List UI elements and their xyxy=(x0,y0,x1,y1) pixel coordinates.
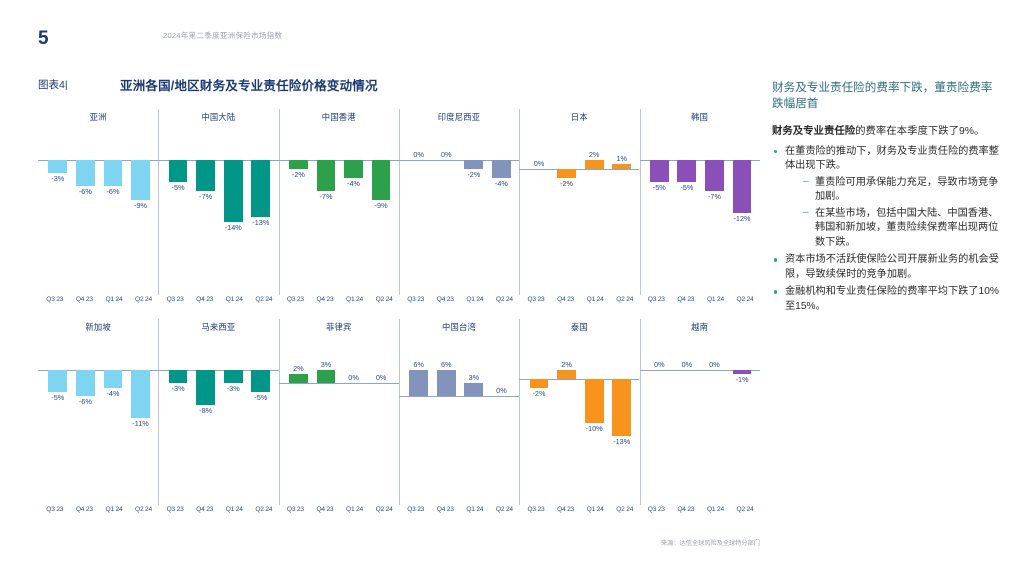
tick-label: Q1 24 xyxy=(340,296,370,303)
commentary-sidebar: 财务及专业责任险的费率下跌，董责险费率跌幅居首 财务及专业责任险的费率在本季度下… xyxy=(772,80,1000,317)
plot-area: -5%-6%-4%-11% xyxy=(44,344,154,494)
tick-label: Q2 24 xyxy=(369,296,399,303)
bar xyxy=(612,164,631,168)
bar-value-label: 1% xyxy=(600,154,644,163)
tick-label: Q2 24 xyxy=(490,296,520,303)
tick-label: Q2 24 xyxy=(249,296,279,303)
panel-divider xyxy=(640,319,641,505)
plot-area: 0%0%-2%-4% xyxy=(405,134,515,284)
bar-slot: -5% xyxy=(673,134,701,284)
bar xyxy=(612,379,631,436)
chart-panel: 中国台湾6%6%3%0%Q3 23Q4 23Q1 24Q2 24 xyxy=(399,316,519,526)
tick-label: Q1 24 xyxy=(580,296,610,303)
bar-slot: -14% xyxy=(219,134,247,284)
bar-slot: -10% xyxy=(580,344,608,494)
bar xyxy=(196,160,215,191)
tick-label: Q4 23 xyxy=(190,506,220,513)
bar-series: 0%0%-2%-4% xyxy=(405,134,515,284)
dash-icon: – xyxy=(803,175,809,189)
sub-list-item: –董责险可用承保能力充足，导致市场竞争加剧。 xyxy=(803,176,1000,205)
x-axis-ticks: Q3 23Q4 23Q1 24Q2 24 xyxy=(401,506,519,513)
bar xyxy=(492,160,511,178)
bar xyxy=(372,160,391,200)
bar xyxy=(705,160,724,191)
bar xyxy=(585,379,604,423)
bar-slot: -9% xyxy=(127,134,155,284)
sidebar-lead: 财务及专业责任险的费率在本季度下跌了9%。 xyxy=(772,124,1000,139)
tick-label: Q1 24 xyxy=(340,506,370,513)
chart-panel: 印度尼西亚0%0%-2%-4%Q3 23Q4 23Q1 24Q2 24 xyxy=(399,106,519,316)
bar xyxy=(677,160,696,182)
bar-series: 6%6%3%0% xyxy=(405,344,515,494)
tick-label: Q4 23 xyxy=(671,506,701,513)
bar-series: -5%-5%-7%-12% xyxy=(646,134,756,284)
bar-slot: -3% xyxy=(44,134,72,284)
chart-panel: 中国大陆-5%-7%-14%-13%Q3 23Q4 23Q1 24Q2 24 xyxy=(158,106,278,316)
bar-slot: 0% xyxy=(432,134,460,284)
tick-label: Q3 23 xyxy=(160,296,190,303)
page-title: 亚洲各国/地区财务及专业责任险价格变动情况 xyxy=(120,75,378,94)
bar-value-label: -13% xyxy=(239,218,283,227)
bar-value-label: -9% xyxy=(118,201,162,210)
bar-slot: -7% xyxy=(701,134,729,284)
tick-label: Q3 23 xyxy=(40,506,70,513)
sub-bullet-list: –董责险可用承保能力充足，导致市场竞争加剧。–在某些市场，包括中国大陆、中国香港… xyxy=(803,176,1000,250)
x-axis-ticks: Q3 23Q4 23Q1 24Q2 24 xyxy=(160,296,278,303)
tick-label: Q2 24 xyxy=(610,296,640,303)
panel-title: 印度尼西亚 xyxy=(399,111,519,123)
bar xyxy=(650,160,669,182)
tick-label: Q1 24 xyxy=(460,296,490,303)
plot-area: 6%6%3%0% xyxy=(405,344,515,494)
bar xyxy=(251,370,270,392)
bar-series: -5%-7%-14%-13% xyxy=(164,134,274,284)
bar xyxy=(224,370,243,383)
tick-label: Q4 23 xyxy=(671,296,701,303)
source-note: 来源：达信全球风险及全球特分部门 xyxy=(600,538,760,547)
slide-page: 5 2024年第二季度亚洲保险市场指数 图表4| 亚洲各国/地区财务及专业责任险… xyxy=(0,0,1024,576)
bar-slot: 2% xyxy=(553,344,581,494)
bar-slot: -2% xyxy=(285,134,313,284)
tick-label: Q4 23 xyxy=(190,296,220,303)
panel-title: 日本 xyxy=(519,111,639,123)
plot-area: -3%-6%-6%-9% xyxy=(44,134,154,284)
bar-slot: 3% xyxy=(460,344,488,494)
chart-panel: 马来西亚-3%-8%-3%-5%Q3 23Q4 23Q1 24Q2 24 xyxy=(158,316,278,526)
panel-title: 中国香港 xyxy=(279,111,399,123)
x-axis-ticks: Q3 23Q4 23Q1 24Q2 24 xyxy=(521,506,639,513)
plot-area: -2%2%-10%-13% xyxy=(525,344,635,494)
bar-slot: -8% xyxy=(192,344,220,494)
bar xyxy=(557,370,576,379)
tick-label: Q3 23 xyxy=(642,506,672,513)
chart-panel: 新加坡-5%-6%-4%-11%Q3 23Q4 23Q1 24Q2 24 xyxy=(38,316,158,526)
bar-series: -3%-6%-6%-9% xyxy=(44,134,154,284)
tick-label: Q1 24 xyxy=(460,506,490,513)
bar xyxy=(104,370,123,388)
bar-series: 2%3%0%0% xyxy=(285,344,395,494)
bar-slot: 0% xyxy=(525,134,553,284)
list-item: 资本市场不活跃使保险公司开展新业务的机会受限，导致续保时的竞争加剧。 xyxy=(772,253,1000,282)
x-axis-ticks: Q3 23Q4 23Q1 24Q2 24 xyxy=(642,506,760,513)
bar-slot: -4% xyxy=(488,134,516,284)
tick-label: Q1 24 xyxy=(219,506,249,513)
bullet-dot-icon xyxy=(774,150,777,153)
panel-title: 中国大陆 xyxy=(158,111,278,123)
bar-slot: -6% xyxy=(72,134,100,284)
tick-label: Q4 23 xyxy=(430,296,460,303)
plot-area: -5%-5%-7%-12% xyxy=(646,134,756,284)
panel-title: 菲律宾 xyxy=(279,321,399,333)
x-axis-ticks: Q3 23Q4 23Q1 24Q2 24 xyxy=(521,296,639,303)
dash-icon: – xyxy=(803,206,809,220)
bar xyxy=(530,379,549,388)
bullet-dot-icon xyxy=(774,290,777,293)
bar-slot: -11% xyxy=(127,344,155,494)
x-axis-ticks: Q3 23Q4 23Q1 24Q2 24 xyxy=(40,296,158,303)
bar-slot: -9% xyxy=(367,134,395,284)
bar-slot: 0% xyxy=(488,344,516,494)
charts-grid: 亚洲-3%-6%-6%-9%Q3 23Q4 23Q1 24Q2 24中国大陆-5… xyxy=(38,106,760,526)
x-axis-ticks: Q3 23Q4 23Q1 24Q2 24 xyxy=(281,296,399,303)
panel-divider xyxy=(399,109,400,295)
panel-title: 新加坡 xyxy=(38,321,158,333)
x-axis-ticks: Q3 23Q4 23Q1 24Q2 24 xyxy=(160,506,278,513)
bar-slot: -7% xyxy=(192,134,220,284)
plot-area: 2%3%0%0% xyxy=(285,344,395,494)
x-axis-ticks: Q3 23Q4 23Q1 24Q2 24 xyxy=(642,296,760,303)
list-item: 金融机构和专业责任保险的费率平均下跌了10%至15%。 xyxy=(772,285,1000,314)
list-item: 在董责险的推动下，财务及专业责任险的费率整体出现下跌。–董责险可用承保能力充足，… xyxy=(772,145,1000,250)
bar-series: -2%2%-10%-13% xyxy=(525,344,635,494)
tick-label: Q3 23 xyxy=(401,506,431,513)
panel-title: 越南 xyxy=(640,321,760,333)
panel-divider xyxy=(279,109,280,295)
bar-slot: 6% xyxy=(432,344,460,494)
bar-slot: -13% xyxy=(608,344,636,494)
tick-label: Q4 23 xyxy=(70,296,100,303)
bar-value-label: -13% xyxy=(600,437,644,446)
bar xyxy=(131,370,150,418)
tick-label: Q2 24 xyxy=(730,296,760,303)
bar-slot: 0% xyxy=(340,344,368,494)
bar xyxy=(733,160,752,213)
sub-bullet-text: 董责险可用承保能力充足，导致市场竞争加剧。 xyxy=(815,177,998,202)
tick-label: Q3 23 xyxy=(521,296,551,303)
tick-label: Q3 23 xyxy=(40,296,70,303)
tick-label: Q4 23 xyxy=(551,296,581,303)
tick-label: Q1 24 xyxy=(580,506,610,513)
tick-label: Q2 24 xyxy=(490,506,520,513)
bar-slot: -2% xyxy=(460,134,488,284)
bullet-text: 金融机构和专业责任保险的费率平均下跌了10%至15%。 xyxy=(785,286,999,311)
bar xyxy=(289,160,308,169)
bar-slot: 0% xyxy=(367,344,395,494)
bar-slot: -5% xyxy=(164,134,192,284)
bar-series: 0%-2%2%1% xyxy=(525,134,635,284)
tick-label: Q4 23 xyxy=(430,506,460,513)
chart-panel: 菲律宾2%3%0%0%Q3 23Q4 23Q1 24Q2 24 xyxy=(279,316,399,526)
bar xyxy=(131,160,150,200)
panel-divider xyxy=(158,109,159,295)
bar-value-label: 0% xyxy=(359,373,403,382)
sidebar-lead-bold: 财务及专业责任险 xyxy=(772,126,855,137)
bar xyxy=(48,160,67,173)
sub-bullet-text: 在某些市场，包括中国大陆、中国香港、韩国和新加坡，董责险续保费率出现两位数下跌。 xyxy=(815,208,998,248)
bar-slot: -6% xyxy=(72,344,100,494)
chart-row-bottom: 新加坡-5%-6%-4%-11%Q3 23Q4 23Q1 24Q2 24马来西亚… xyxy=(38,316,760,526)
panel-title: 泰国 xyxy=(519,321,639,333)
x-axis-ticks: Q3 23Q4 23Q1 24Q2 24 xyxy=(281,506,399,513)
tick-label: Q2 24 xyxy=(369,506,399,513)
bar-series: -5%-6%-4%-11% xyxy=(44,344,154,494)
panel-divider xyxy=(279,319,280,505)
bar xyxy=(409,370,428,396)
chart-panel: 越南0%0%0%-1%Q3 23Q4 23Q1 24Q2 24 xyxy=(640,316,760,526)
panel-title: 亚洲 xyxy=(38,111,158,123)
tick-label: Q2 24 xyxy=(129,506,159,513)
bar-slot: -13% xyxy=(247,134,275,284)
panel-divider xyxy=(519,109,520,295)
bar-slot: -5% xyxy=(44,344,72,494)
tick-label: Q1 24 xyxy=(701,296,731,303)
bar-value-label: -4% xyxy=(479,179,523,188)
tick-label: Q3 23 xyxy=(281,506,311,513)
bar xyxy=(76,160,95,186)
tick-label: Q4 23 xyxy=(310,296,340,303)
tick-label: Q1 24 xyxy=(219,296,249,303)
bar xyxy=(169,160,188,182)
bar-slot: -3% xyxy=(219,344,247,494)
bar xyxy=(464,160,483,169)
sidebar-heading: 财务及专业责任险的费率下跌，董责险费率跌幅居首 xyxy=(772,80,1000,113)
sidebar-bullet-list: 在董责险的推动下，财务及专业责任险的费率整体出现下跌。–董责险可用承保能力充足，… xyxy=(772,145,1000,314)
tick-label: Q4 23 xyxy=(70,506,100,513)
bar xyxy=(344,160,363,178)
bar-value-label: -12% xyxy=(720,214,764,223)
panel-title: 韩国 xyxy=(640,111,760,123)
bar xyxy=(251,160,270,217)
bar xyxy=(224,160,243,222)
figure-label: 图表4| xyxy=(38,77,68,92)
bar xyxy=(104,160,123,186)
tick-label: Q3 23 xyxy=(160,506,190,513)
sub-list-item: –在某些市场，包括中国大陆、中国香港、韩国和新加坡，董责险续保费率出现两位数下跌… xyxy=(803,207,1000,250)
bullet-text: 在董责险的推动下，财务及专业责任险的费率整体出现下跌。 xyxy=(785,146,999,171)
bar-slot: -7% xyxy=(312,134,340,284)
bullet-dot-icon xyxy=(774,258,777,261)
bar-series: -2%-7%-4%-9% xyxy=(285,134,395,284)
bar xyxy=(169,370,188,383)
tick-label: Q3 23 xyxy=(401,296,431,303)
tick-label: Q1 24 xyxy=(701,506,731,513)
panel-divider xyxy=(519,319,520,505)
chart-panel: 亚洲-3%-6%-6%-9%Q3 23Q4 23Q1 24Q2 24 xyxy=(38,106,158,316)
document-title: 2024年第二季度亚洲保险市场指数 xyxy=(163,30,282,41)
bar-series: 0%0%0%-1% xyxy=(646,344,756,494)
bar xyxy=(289,374,308,383)
tick-label: Q1 24 xyxy=(99,506,129,513)
bar xyxy=(48,370,67,392)
chart-panel: 泰国-2%2%-10%-13%Q3 23Q4 23Q1 24Q2 24 xyxy=(519,316,639,526)
panel-divider xyxy=(158,319,159,505)
tick-label: Q3 23 xyxy=(521,506,551,513)
tick-label: Q4 23 xyxy=(551,506,581,513)
bar-slot: 1% xyxy=(608,134,636,284)
bar-value-label: -9% xyxy=(359,201,403,210)
bar-slot: -3% xyxy=(164,344,192,494)
tick-label: Q2 24 xyxy=(730,506,760,513)
bar xyxy=(557,169,576,178)
tick-label: Q3 23 xyxy=(281,296,311,303)
x-axis-ticks: Q3 23Q4 23Q1 24Q2 24 xyxy=(40,506,158,513)
bar-slot: -5% xyxy=(247,344,275,494)
chart-panel: 日本0%-2%2%1%Q3 23Q4 23Q1 24Q2 24 xyxy=(519,106,639,316)
sidebar-lead-rest: 的费率在本季度下跌了9%。 xyxy=(855,126,984,137)
bar xyxy=(733,370,752,374)
plot-area: -2%-7%-4%-9% xyxy=(285,134,395,284)
tick-label: Q3 23 xyxy=(642,296,672,303)
chart-row-top: 亚洲-3%-6%-6%-9%Q3 23Q4 23Q1 24Q2 24中国大陆-5… xyxy=(38,106,760,316)
bar-slot: -5% xyxy=(646,134,674,284)
tick-label: Q2 24 xyxy=(249,506,279,513)
plot-area: -3%-8%-3%-5% xyxy=(164,344,274,494)
bar-value-label: -5% xyxy=(239,393,283,402)
chart-panel: 韩国-5%-5%-7%-12%Q3 23Q4 23Q1 24Q2 24 xyxy=(640,106,760,316)
bullet-text: 资本市场不活跃使保险公司开展新业务的机会受限，导致续保时的竞争加剧。 xyxy=(785,254,999,279)
plot-area: -5%-7%-14%-13% xyxy=(164,134,274,284)
tick-label: Q2 24 xyxy=(129,296,159,303)
tick-label: Q2 24 xyxy=(610,506,640,513)
bar-slot: 0% xyxy=(701,344,729,494)
plot-area: 0%-2%2%1% xyxy=(525,134,635,284)
chart-panel: 中国香港-2%-7%-4%-9%Q3 23Q4 23Q1 24Q2 24 xyxy=(279,106,399,316)
bar-value-label: -1% xyxy=(720,375,764,384)
panel-title: 马来西亚 xyxy=(158,321,278,333)
tick-label: Q4 23 xyxy=(310,506,340,513)
bar-slot: -1% xyxy=(728,344,756,494)
panel-title: 中国台湾 xyxy=(399,321,519,333)
x-axis-ticks: Q3 23Q4 23Q1 24Q2 24 xyxy=(401,296,519,303)
bar-value-label: -11% xyxy=(118,419,162,428)
panel-divider xyxy=(399,319,400,505)
bar-slot: -12% xyxy=(728,134,756,284)
plot-area: 0%0%0%-1% xyxy=(646,344,756,494)
tick-label: Q1 24 xyxy=(99,296,129,303)
page-number: 5 xyxy=(38,28,49,50)
panel-divider xyxy=(640,109,641,295)
bar-slot: 3% xyxy=(312,344,340,494)
bar-series: -3%-8%-3%-5% xyxy=(164,344,274,494)
